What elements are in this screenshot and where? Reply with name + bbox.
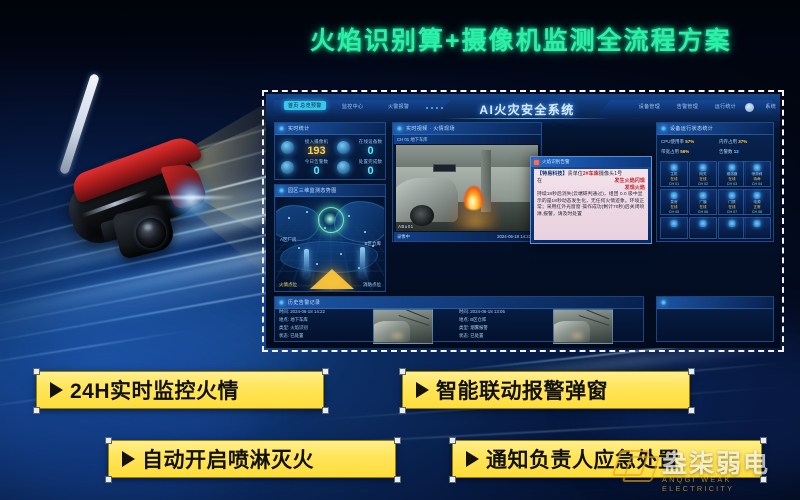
triangle-bullet-icon bbox=[466, 451, 479, 467]
dashboard-title-underline bbox=[444, 118, 610, 119]
stat-today-alarms: 今日告警数 0 bbox=[295, 159, 338, 177]
kv-cpu: CPU使用率 57% bbox=[661, 139, 694, 145]
stat-icon-cameras bbox=[281, 141, 294, 154]
video-scene bbox=[396, 145, 538, 231]
map-label-zone-b: B区仓库 bbox=[364, 241, 381, 247]
nav-item-monitor-center[interactable]: 监控中心 bbox=[342, 103, 363, 110]
alert-popup-title: 火焰识别告警 bbox=[542, 159, 570, 165]
map-beacon-left bbox=[304, 249, 309, 277]
watermark: 盎柒弱电 ANQGI WEAK ELECTRICITY bbox=[614, 440, 800, 498]
device-icon bbox=[754, 164, 761, 171]
device-icon bbox=[729, 192, 736, 199]
nav-item-overview[interactable]: 首页 总览预警 bbox=[284, 101, 326, 110]
camera-ir-flare bbox=[168, 176, 214, 222]
video-panel-title: 实时视频 · 火情现场 bbox=[406, 125, 455, 132]
record-place: 地点: B区仓库 bbox=[459, 317, 486, 322]
record-place: 地点: 地下车库 bbox=[279, 317, 308, 322]
dashboard-header: 首页 总览预警 监控中心 火警报警 设备管理 告警管理 运行统计 系统 AI火灾… bbox=[266, 98, 780, 118]
record-state: 状态: 已处置 bbox=[279, 333, 303, 338]
video-channel-bar: CH 01 地下车库 bbox=[394, 135, 540, 144]
device-channel: CH 05 bbox=[661, 210, 687, 214]
device-channel: CH 07 bbox=[719, 210, 745, 214]
alert-warning-icon bbox=[534, 160, 539, 165]
video-recording-status: 录像中 bbox=[397, 234, 410, 240]
device-card[interactable]: 泵房 在线 CH 05 bbox=[660, 189, 688, 215]
map-panel-icon bbox=[279, 188, 284, 193]
device-icon bbox=[729, 220, 736, 227]
side-records-header-bar bbox=[657, 297, 773, 309]
feature-label-text: 24H实时监控火情 bbox=[70, 375, 239, 405]
device-icon bbox=[700, 220, 707, 227]
alert-popup-header: 火焰识别告警 bbox=[531, 157, 651, 167]
alert-company: 【特易科技】 bbox=[537, 171, 568, 177]
live-video-panel: 实时视频 · 火情现场 CH 01 地下车库 ABu01 bbox=[392, 122, 542, 242]
triangle-bullet-icon bbox=[50, 382, 63, 398]
device-channel: CH 08 bbox=[744, 210, 770, 214]
device-card[interactable] bbox=[718, 217, 746, 239]
kv-alarms-key: 告警数 bbox=[719, 149, 733, 154]
device-card[interactable] bbox=[743, 217, 771, 239]
alert-popup-body: 【特易科技】贵单位2#车库摄像头1号 在 发生火焰闪现 发现火焰 持续18秒后消… bbox=[534, 169, 648, 240]
kv-alarms-value: 12 bbox=[734, 149, 739, 154]
stat-icon-today-alarms bbox=[281, 161, 294, 174]
camera-flare-streak bbox=[150, 196, 236, 199]
device-card[interactable]: 广播 在线 CH 06 bbox=[689, 189, 717, 215]
dashboard-title: AI火灾安全系统 bbox=[452, 101, 602, 118]
device-channel: CH 04 bbox=[744, 182, 770, 186]
stats-panel: 实时统计 接入摄像机 193 在线设备数 0 今日告警数 0 处置完成数 0 bbox=[274, 122, 386, 180]
kv-cpu-value: 57% bbox=[685, 139, 694, 144]
slide-canvas: 火焰识别算+摄像机监测全流程方案 首页 总览预警 监控中心 火警报警 设备管理 bbox=[0, 0, 800, 500]
map-beacon-right bbox=[360, 247, 365, 277]
watermark-logo-icon bbox=[616, 446, 658, 480]
record-thumbnail[interactable] bbox=[373, 309, 433, 344]
device-icon bbox=[700, 164, 707, 171]
stat-value-cameras: 193 bbox=[295, 145, 338, 157]
video-feed[interactable]: CH 01 地下车库 ABu01 录像中 2024- bbox=[394, 135, 540, 241]
record-type: 类型: 烟雾报警 bbox=[459, 325, 488, 330]
title-bar: 火焰识别算+摄像机监测全流程方案 bbox=[0, 0, 800, 70]
video-watermark-plate: ABu01 bbox=[398, 224, 414, 229]
page-title: 火焰识别算+摄像机监测全流程方案 bbox=[310, 21, 795, 57]
alert-camera: 摄像头1号 bbox=[599, 171, 622, 177]
stat-online: 在线设备数 0 bbox=[349, 139, 392, 157]
device-icon bbox=[754, 220, 761, 227]
ai-fire-safety-dashboard: 首页 总览预警 监控中心 火警报警 设备管理 告警管理 运行统计 系统 AI火灾… bbox=[266, 94, 780, 348]
alert-line-3: 发现火焰 bbox=[537, 185, 645, 192]
device-icon bbox=[671, 164, 678, 171]
device-card[interactable]: 门禁 在线 CH 07 bbox=[718, 189, 746, 215]
alert-detected: 发现火焰 bbox=[625, 185, 645, 191]
side-records-panel bbox=[656, 296, 774, 342]
device-card[interactable]: 网关 在线 CH 02 bbox=[689, 161, 717, 187]
device-channel: CH 03 bbox=[719, 182, 745, 186]
records-panel-title: 历史告警记录 bbox=[288, 299, 320, 306]
device-icon bbox=[671, 192, 678, 199]
camera-lens bbox=[136, 218, 166, 248]
device-card[interactable]: 电源 正常 CH 08 bbox=[743, 189, 771, 215]
fire-flame-core bbox=[468, 195, 477, 209]
nav-item-device-mgmt[interactable]: 设备管理 bbox=[639, 103, 660, 110]
car-wheel bbox=[410, 205, 434, 226]
device-card[interactable]: 主机 在线 CH 01 bbox=[660, 161, 688, 187]
garage-sign bbox=[433, 164, 456, 172]
device-channel: CH 02 bbox=[690, 182, 716, 186]
device-card[interactable] bbox=[660, 217, 688, 239]
feature-label-alarm-popup[interactable]: 智能联动报警弹窗 bbox=[402, 371, 690, 409]
kv-bandwidth-value: 56% bbox=[680, 149, 689, 154]
garage-ceiling bbox=[396, 145, 538, 167]
stats-panel-title: 实时统计 bbox=[288, 125, 310, 132]
device-icon bbox=[671, 220, 678, 227]
kv-bandwidth-key: 带宽占用 bbox=[661, 149, 679, 154]
map-panel: 园区三维监测态势图 A区厂房 B区仓库 bbox=[274, 184, 386, 292]
triangle-bullet-icon bbox=[122, 451, 135, 467]
device-panel-icon bbox=[661, 126, 666, 131]
nav-item-run-stats[interactable]: 运行统计 bbox=[715, 103, 736, 110]
map-label-zone-a: A区厂房 bbox=[280, 237, 297, 243]
alert-location: 2#车库 bbox=[583, 171, 599, 177]
nav-item-fire-alarm[interactable]: 火警报警 bbox=[388, 103, 409, 110]
device-channel: CH 06 bbox=[690, 210, 716, 214]
map-fire-marker bbox=[310, 269, 354, 289]
map-label-fire-equipment: 消防点位 bbox=[363, 282, 381, 288]
alert-line-2: 在 发生火焰闪现 bbox=[537, 178, 645, 185]
triangle-bullet-icon bbox=[416, 382, 429, 398]
feature-label-monitoring[interactable]: 24H实时监控火情 bbox=[36, 371, 324, 409]
stats-panel-icon bbox=[279, 126, 284, 131]
stat-cameras: 接入摄像机 193 bbox=[295, 139, 338, 157]
kv-mem: 内存占用 37% bbox=[719, 139, 747, 145]
device-panel-title: 设备运行状态统计 bbox=[670, 125, 713, 132]
camera-lens-glint bbox=[144, 224, 152, 230]
nav-item-alarm-mgmt[interactable]: 告警管理 bbox=[677, 103, 698, 110]
kv-mem-key: 内存占用 bbox=[719, 139, 737, 144]
device-status-panel: 设备运行状态统计 CPU使用率 57% 内存占用 37% 带宽占用 56% 告警… bbox=[656, 122, 774, 242]
alert-at: 在 bbox=[537, 178, 542, 184]
user-avatar[interactable] bbox=[745, 103, 754, 112]
device-card[interactable]: 烟感器 在线 CH 03 bbox=[718, 161, 746, 187]
device-icon bbox=[729, 164, 736, 171]
map-label-fire-point: 火情点位 bbox=[279, 282, 297, 288]
stat-handled: 处置完成数 0 bbox=[349, 159, 392, 177]
device-card[interactable] bbox=[689, 217, 717, 239]
alert-body-text: 持续18秒后消失(云端研判通过)，组团 0.0 吸中显示的是18秒动态发生化，无… bbox=[537, 192, 645, 218]
stat-value-today-alarms: 0 bbox=[295, 165, 338, 177]
feature-label-sprinkler[interactable]: 自动开启喷淋灭火 bbox=[108, 440, 396, 478]
site-3d-map[interactable]: A区厂房 B区仓库 火情点位 消防点位 bbox=[276, 197, 384, 291]
video-footer-bar: 录像中 2024-06-18 14:22:31 bbox=[394, 232, 540, 241]
device-channel: CH 01 bbox=[661, 182, 687, 186]
record-time: 时间: 2024-06-18 13:05 bbox=[459, 309, 505, 314]
kv-cpu-key: CPU使用率 bbox=[661, 139, 684, 144]
stat-value-handled: 0 bbox=[349, 165, 392, 177]
kv-bandwidth: 带宽占用 56% bbox=[661, 149, 689, 155]
device-icon bbox=[700, 192, 707, 199]
record-thumbnail[interactable] bbox=[553, 309, 613, 344]
record-type: 类型: 火焰识别 bbox=[279, 325, 308, 330]
wireless-bullet-camera bbox=[18, 68, 208, 243]
video-panel-icon bbox=[397, 126, 402, 131]
feature-label-text: 自动开启喷淋灭火 bbox=[142, 444, 314, 474]
alert-event: 发生火焰闪现 bbox=[614, 178, 645, 185]
nav-item-system[interactable]: 系统 bbox=[765, 103, 776, 110]
video-channel-label: CH 01 地下车库 bbox=[397, 137, 428, 143]
alert-unit: 贵单位 bbox=[568, 171, 583, 177]
map-panel-title: 园区三维监测态势图 bbox=[288, 187, 337, 194]
fire-alert-popup[interactable]: 火焰识别告警 【特易科技】贵单位2#车库摄像头1号 在 发生火焰闪现 发现火焰 … bbox=[530, 156, 652, 244]
feature-label-text: 智能联动报警弹窗 bbox=[436, 375, 608, 405]
records-panel-icon bbox=[279, 300, 284, 305]
map-alert-core bbox=[324, 213, 336, 225]
antenna-icon bbox=[59, 73, 100, 175]
record-time: 时间: 2024-06-18 14:22 bbox=[279, 309, 325, 314]
stat-value-online: 0 bbox=[349, 145, 392, 157]
device-icon bbox=[754, 192, 761, 199]
record-state: 状态: 已处置 bbox=[459, 333, 483, 338]
alarm-records-panel: 历史告警记录 时间: 2024-06-18 14:22 地点: 地下车库 类型:… bbox=[274, 296, 644, 342]
kv-alarms: 告警数 12 bbox=[719, 149, 739, 155]
device-card[interactable]: 喷淋阀 待命 CH 04 bbox=[743, 161, 771, 187]
records-panel-header-bar bbox=[275, 297, 643, 309]
side-records-icon bbox=[661, 300, 666, 305]
alert-line-1: 【特易科技】贵单位2#车库摄像头1号 bbox=[537, 171, 645, 178]
kv-mem-value: 37% bbox=[738, 139, 747, 144]
watermark-brand-en: ANQGI WEAK ELECTRICITY bbox=[662, 475, 800, 493]
